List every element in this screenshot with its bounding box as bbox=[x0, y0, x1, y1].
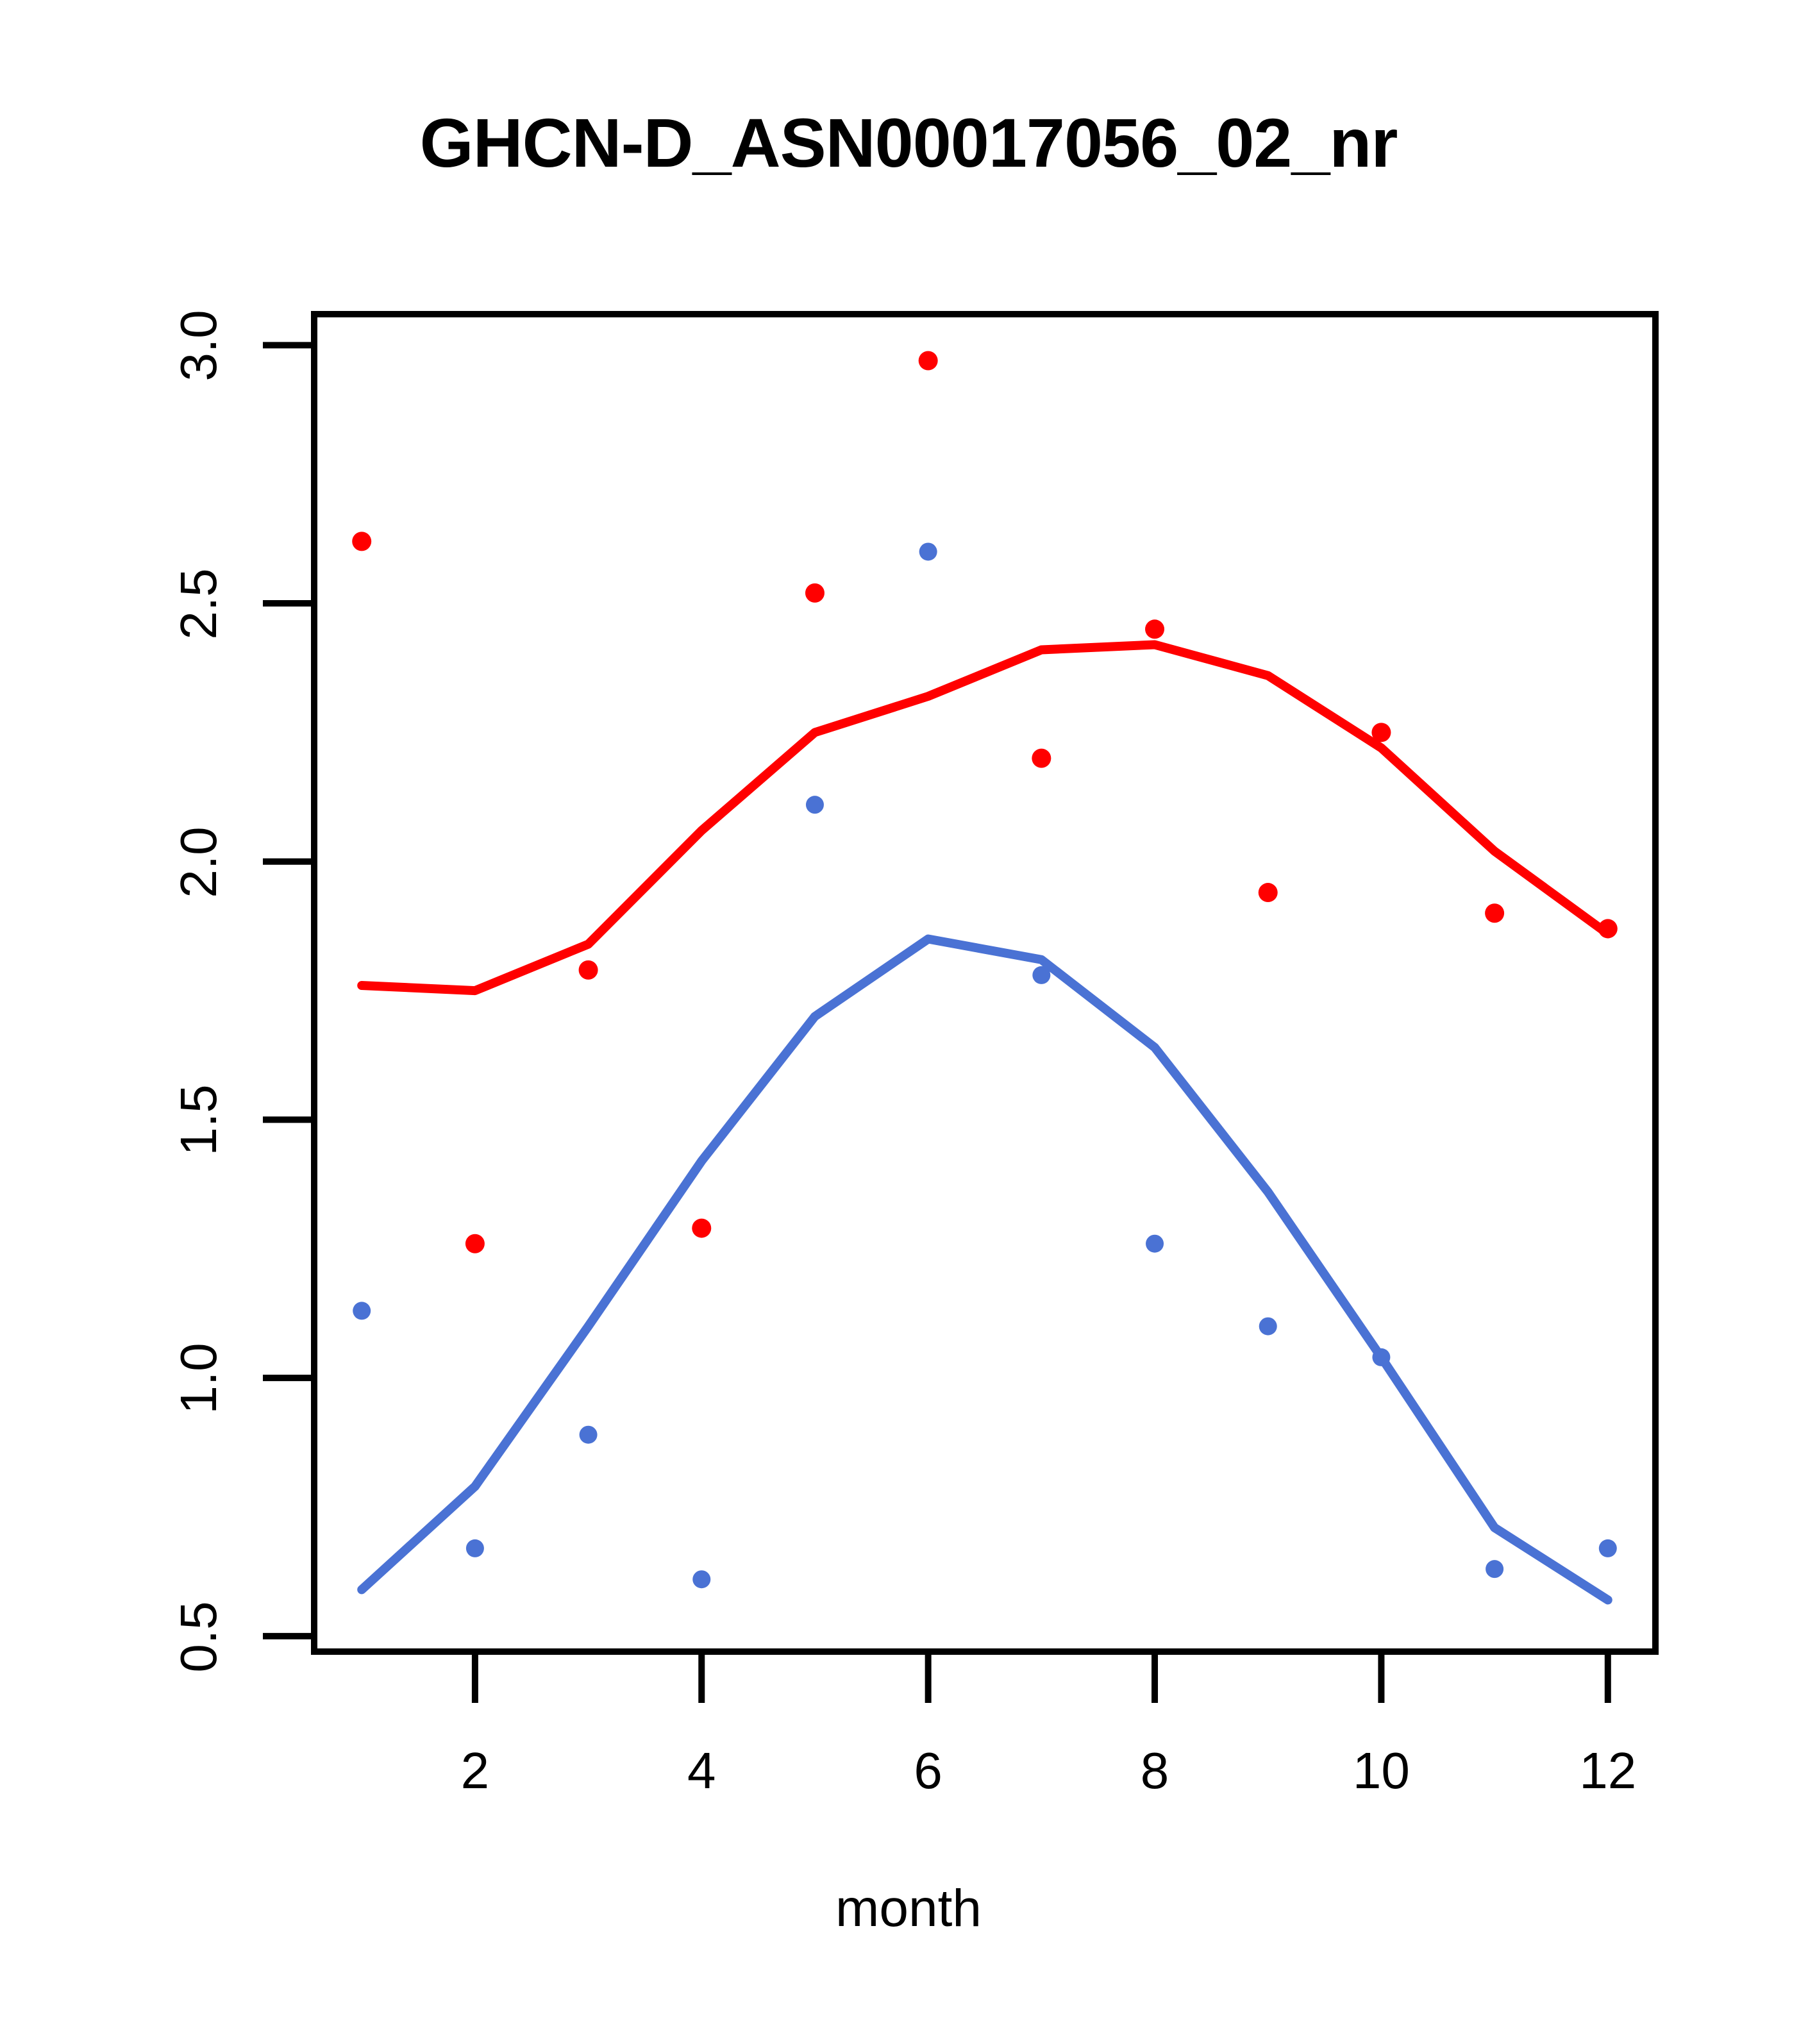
red-points-marker bbox=[579, 960, 598, 980]
y-tick-label: 1.5 bbox=[169, 1056, 228, 1184]
red-points-marker bbox=[1145, 619, 1164, 639]
red-points-marker bbox=[805, 583, 825, 603]
blue-points-marker bbox=[466, 1539, 484, 1557]
plot-area bbox=[0, 0, 1817, 2044]
red-points-marker bbox=[352, 532, 371, 551]
blue-points-marker bbox=[1372, 1348, 1390, 1366]
blue-points-marker bbox=[806, 796, 824, 814]
blue-points-marker bbox=[1259, 1318, 1277, 1336]
blue-points-marker bbox=[353, 1302, 371, 1319]
blue-points-marker bbox=[1146, 1235, 1164, 1253]
x-tick-label: 2 bbox=[398, 1741, 552, 1800]
blue-smooth-line bbox=[362, 939, 1608, 1600]
x-tick-label: 12 bbox=[1531, 1741, 1685, 1800]
blue-points-marker bbox=[692, 1570, 710, 1588]
red-points-marker bbox=[919, 351, 938, 370]
y-tick-label: 3.0 bbox=[169, 281, 228, 410]
chart-canvas: GHCN-D_ASN00017056_02_nr 0.51.01.52.02.5… bbox=[0, 0, 1817, 2044]
red-points-marker bbox=[1371, 723, 1391, 742]
red-smooth-line bbox=[362, 644, 1608, 991]
blue-points-marker bbox=[1032, 966, 1050, 984]
x-tick-label: 8 bbox=[1078, 1741, 1232, 1800]
blue-points-marker bbox=[1599, 1539, 1617, 1557]
x-tick-label: 6 bbox=[851, 1741, 1005, 1800]
red-points-marker bbox=[1598, 919, 1618, 938]
y-tick-label: 2.5 bbox=[169, 540, 228, 668]
x-tick-label: 4 bbox=[624, 1741, 778, 1800]
series-layer bbox=[352, 351, 1618, 1600]
red-points-marker bbox=[1259, 883, 1278, 902]
red-points-marker bbox=[692, 1219, 711, 1238]
y-tick-label: 2.0 bbox=[169, 798, 228, 926]
x-axis-title: month bbox=[0, 1879, 1817, 1939]
plot-border bbox=[314, 314, 1655, 1652]
blue-points-marker bbox=[919, 542, 937, 560]
blue-points-marker bbox=[1486, 1560, 1503, 1578]
red-points-marker bbox=[1032, 749, 1051, 768]
red-points-marker bbox=[1485, 903, 1504, 923]
y-tick-label: 1.0 bbox=[169, 1314, 228, 1443]
red-points-marker bbox=[465, 1234, 485, 1253]
blue-points-marker bbox=[580, 1426, 598, 1444]
y-tick-label: 0.5 bbox=[169, 1573, 228, 1701]
x-tick-label: 10 bbox=[1304, 1741, 1458, 1800]
